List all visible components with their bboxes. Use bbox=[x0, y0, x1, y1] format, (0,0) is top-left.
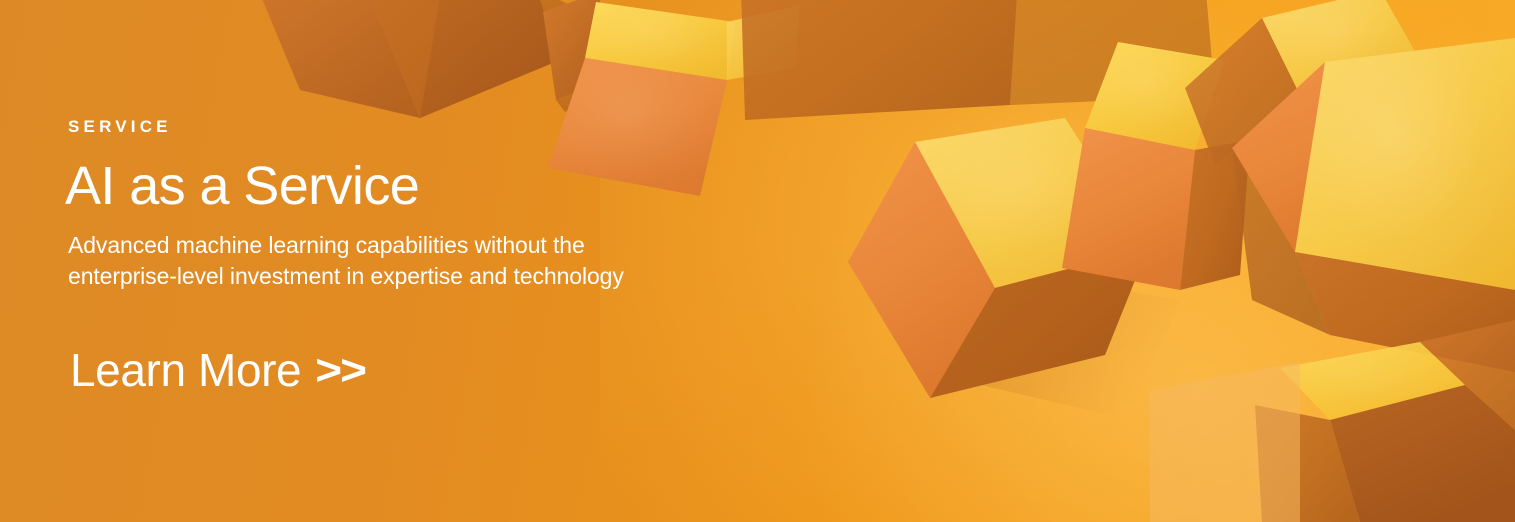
subcopy-line-1: Advanced machine learning capabilities w… bbox=[68, 230, 624, 261]
banner-content: SERVICE AI as a Service Advanced machine… bbox=[68, 0, 868, 522]
cube-large-right bbox=[1232, 38, 1515, 372]
subcopy-line-2: enterprise-level investment in expertise… bbox=[68, 261, 624, 292]
eyebrow-label: SERVICE bbox=[68, 118, 172, 135]
background-glow-secondary bbox=[815, 82, 1515, 522]
learn-more-link[interactable]: Learn More >> bbox=[70, 345, 365, 396]
cube-large-left bbox=[848, 118, 1180, 420]
cube-middle bbox=[1062, 42, 1250, 290]
learn-more-label: Learn More bbox=[70, 345, 301, 396]
banner-subcopy: Advanced machine learning capabilities w… bbox=[68, 230, 624, 292]
cube-bottom-right bbox=[1255, 320, 1515, 522]
service-banner: SERVICE AI as a Service Advanced machine… bbox=[0, 0, 1515, 522]
cube-pale-plane bbox=[1150, 362, 1300, 522]
cube-wedge-upper-right bbox=[1185, 0, 1420, 165]
page-title: AI as a Service bbox=[65, 157, 419, 215]
double-chevron-right-icon: >> bbox=[315, 347, 365, 394]
